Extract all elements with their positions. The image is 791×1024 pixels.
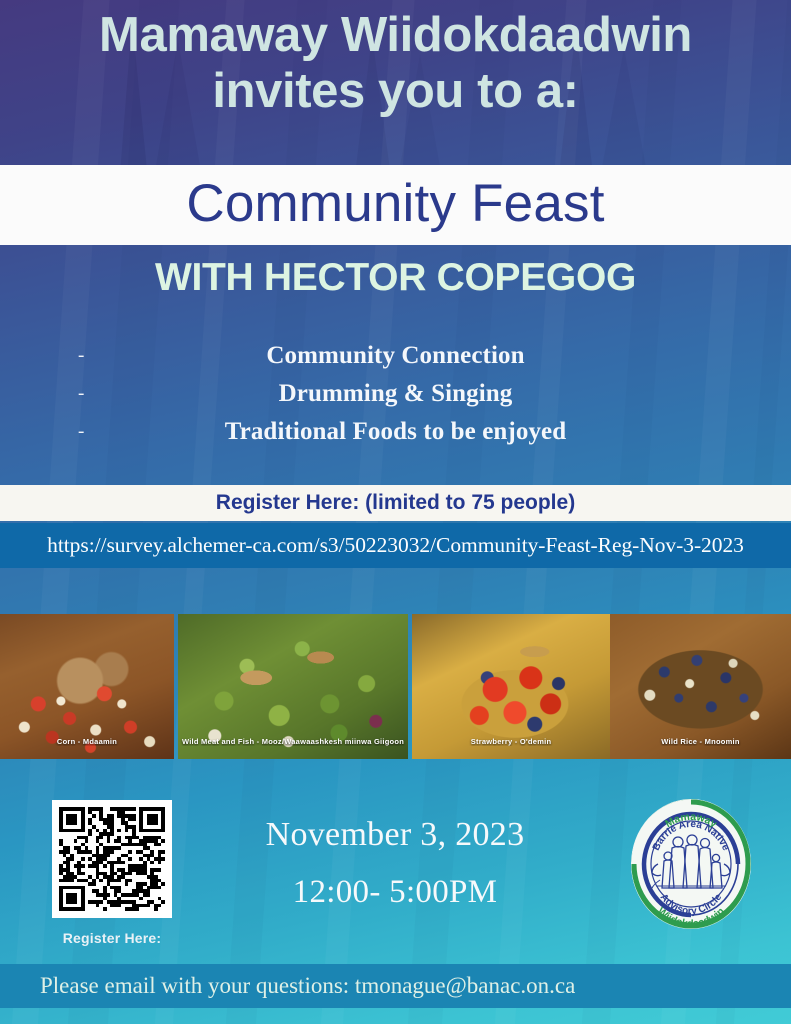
qr-code-label: Register Here: (52, 930, 172, 946)
presenter-line: WITH HECTOR COPEGOG (0, 256, 791, 300)
presenter-name: WITH HECTOR COPEGOG (155, 256, 636, 299)
food-photo-wild-rice: Wild Rice - Mnoomin (610, 614, 791, 759)
poster-header: Mamaway Wiidokdaadwin invites you to a: (0, 0, 791, 165)
food-photo-meat-fish: Wild Meat and Fish - Mooz/Waawaashkesh m… (178, 614, 408, 759)
qr-code-block[interactable]: Register Here: (52, 800, 172, 946)
poster-root: Mamaway Wiidokdaadwin invites you to a: … (0, 0, 791, 1024)
bullet-text: Traditional Foods to be enjoyed (225, 418, 567, 446)
feature-list: - Community Connection - Drumming & Sing… (0, 337, 791, 451)
header-line-1: Mamaway Wiidokdaadwin (99, 8, 692, 64)
registration-url-band[interactable]: https://survey.alchemer-ca.com/s3/502230… (0, 523, 791, 568)
event-title-band: Community Feast (0, 165, 791, 245)
event-date: November 3, 2023 (190, 816, 600, 854)
event-datetime: November 3, 2023 12:00- 5:00PM (190, 816, 600, 911)
list-item: - Community Connection (0, 337, 791, 375)
food-photo-corn: Corn - Mdaamin (0, 614, 174, 759)
event-title: Community Feast (186, 177, 604, 230)
contact-email-text[interactable]: Please email with your questions: tmonag… (40, 973, 575, 999)
registration-url-link[interactable]: https://survey.alchemer-ca.com/s3/502230… (47, 533, 744, 558)
list-item: - Drumming & Singing (0, 375, 791, 413)
food-caption: Wild Meat and Fish - Mooz/Waawaashkesh m… (178, 737, 408, 746)
bullet-dash: - (78, 383, 84, 405)
bullet-dash: - (78, 421, 84, 443)
banac-logo: Mamaway Wiidokdaadwin Barrie Area Native… (630, 798, 752, 930)
bullet-text: Drumming & Singing (279, 380, 513, 408)
header-line-2: invites you to a: (212, 64, 578, 120)
food-photo-strip: Corn - Mdaamin Wild Meat and Fish - Mooz… (0, 614, 791, 759)
event-time: 12:00- 5:00PM (190, 874, 600, 911)
food-caption: Wild Rice - Mnoomin (610, 737, 791, 746)
qr-code-image[interactable] (59, 807, 165, 911)
register-heading-band: Register Here: (limited to 75 people) (0, 485, 791, 521)
bullet-dash: - (78, 345, 84, 367)
food-caption: Strawberry - O'demin (412, 737, 610, 746)
food-caption: Corn - Mdaamin (0, 737, 174, 746)
food-photo-strawberry: Strawberry - O'demin (412, 614, 610, 759)
contact-email-bar[interactable]: Please email with your questions: tmonag… (0, 964, 791, 1008)
list-item: - Traditional Foods to be enjoyed (0, 413, 791, 451)
qr-code-frame[interactable] (52, 800, 172, 918)
bullet-text: Community Connection (266, 342, 524, 370)
register-heading: Register Here: (limited to 75 people) (216, 491, 575, 515)
